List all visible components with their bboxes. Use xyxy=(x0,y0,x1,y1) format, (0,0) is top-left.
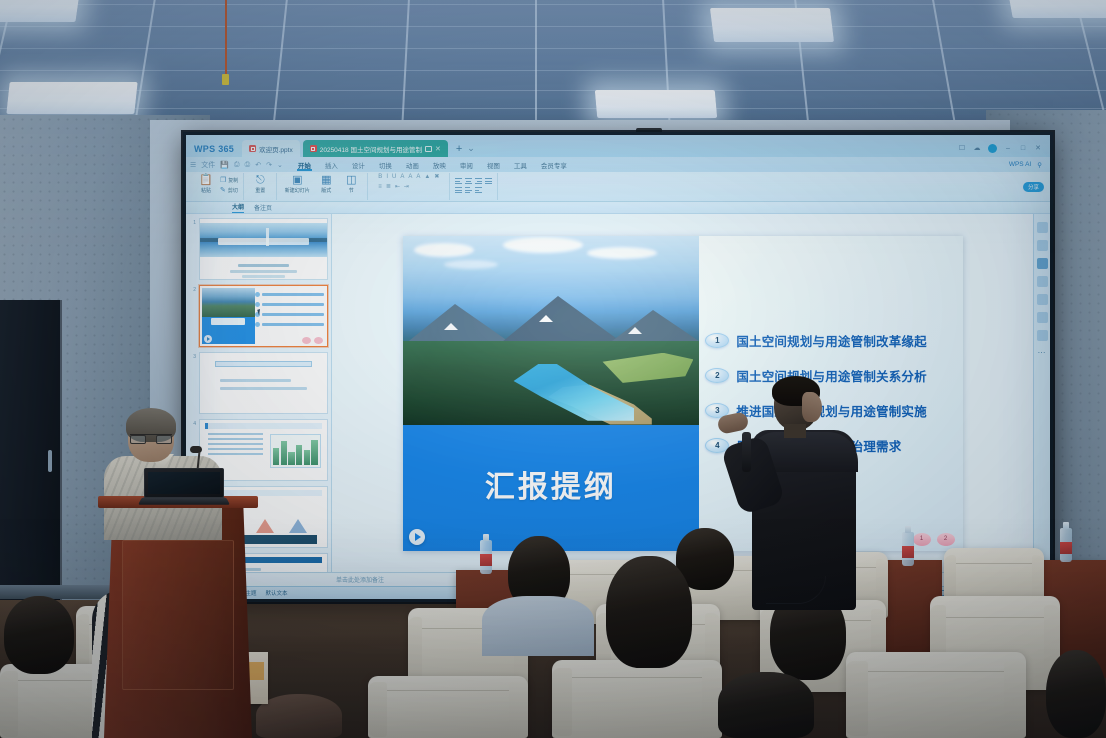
animation-tag[interactable]: 1 xyxy=(913,533,931,546)
close-tab-icon[interactable]: ✕ xyxy=(435,145,441,153)
new-slide-button[interactable]: ▣ 新建幻灯片 xyxy=(282,173,312,194)
document-tab-label: 20250418 国土空间规划与用途管制 xyxy=(320,144,422,154)
align-row-top xyxy=(455,178,492,184)
section-icon: ◫ xyxy=(346,175,356,186)
thumb1-title-bar xyxy=(218,238,309,245)
indent-decrease-icon[interactable]: ⇤ xyxy=(395,183,400,190)
redo-icon[interactable]: ↷ xyxy=(266,161,272,169)
reset-button[interactable]: ⎋ 重置 xyxy=(249,173,271,194)
slide-left-column: 汇报提纲 xyxy=(403,236,700,551)
paragraph-tools-row: ≡ ≣ ⇤ ⇥ xyxy=(373,183,444,190)
section-label: 节 xyxy=(349,187,354,194)
font-group: B I U A A A ▲ ✖ ≡ ≣ xyxy=(368,173,450,200)
format-painter-button[interactable]: ✎ 剪切 xyxy=(220,186,238,194)
underline-icon[interactable]: U xyxy=(392,174,396,180)
audience-head xyxy=(606,556,692,668)
current-slide[interactable]: 汇报提纲 1 国土空间规划与用途管制改革缘起 2 国土空间 xyxy=(403,236,963,551)
ceiling-light-panel xyxy=(710,8,834,42)
thumbnail-item[interactable]: 1 xyxy=(189,218,328,280)
thumb-play-icon[interactable] xyxy=(204,335,212,343)
window-controls: ☐ ☁ – □ ✕ xyxy=(958,144,1046,157)
notes-page-tab[interactable]: 备注页 xyxy=(254,203,272,212)
ceiling-grid xyxy=(0,0,1106,132)
highlight-icon[interactable]: ▲ xyxy=(424,174,430,180)
audience-chair xyxy=(846,652,1026,738)
audience-chair xyxy=(552,660,722,738)
layout-button[interactable]: ▦ 版式 xyxy=(315,173,337,194)
clipboard-group: 📋 粘贴 ❐ 复制 ✎ 剪切 xyxy=(190,173,244,200)
ribbon-tab-review[interactable]: 审阅 xyxy=(453,160,480,170)
presenter-person xyxy=(748,380,868,610)
outline-tab[interactable]: 大纲 xyxy=(232,202,244,213)
share-button[interactable]: 分享 xyxy=(1023,182,1044,192)
wps-office-window: WPS 365 欢迎页.pptx 20250418 国土空间规划与用途管制 ✕ … xyxy=(186,135,1050,599)
door-handle xyxy=(48,450,52,472)
ribbon-tab-transition[interactable]: 切换 xyxy=(372,160,399,170)
reset-label: 重置 xyxy=(255,187,265,194)
thumbnail-slide-1[interactable] xyxy=(199,218,328,280)
charts-icon[interactable] xyxy=(1037,276,1048,287)
water-bottle xyxy=(480,540,492,574)
layout-icon: ▦ xyxy=(321,175,331,186)
align-left-icon[interactable] xyxy=(455,178,462,184)
cut-label: 剪切 xyxy=(228,187,238,194)
numbering-icon[interactable]: ≣ xyxy=(386,183,391,190)
text-direction-icon[interactable] xyxy=(465,187,472,193)
thumbnail-slide-3[interactable] xyxy=(199,352,328,414)
save-icon[interactable]: 💾 xyxy=(220,161,229,169)
water-bottle xyxy=(902,532,914,566)
water-bottle xyxy=(1060,528,1072,562)
audience-chair xyxy=(368,676,528,738)
reset-icon: ⎋ xyxy=(256,175,265,186)
agenda-text: 国土空间规划与用途管制改革缘起 xyxy=(736,331,927,350)
agenda-number: 1 xyxy=(705,333,729,348)
shadow-icon[interactable]: A xyxy=(408,174,412,180)
font-color-icon[interactable]: A xyxy=(416,174,420,180)
shapes-icon[interactable] xyxy=(1037,258,1048,269)
home-icon[interactable] xyxy=(1037,240,1048,251)
audience-head xyxy=(718,672,814,738)
thumb2-title-bar xyxy=(211,318,245,325)
ribbon-tab-insert[interactable]: 插入 xyxy=(318,160,345,170)
play-animation-button[interactable] xyxy=(409,529,425,545)
paste-button[interactable]: 📋 粘贴 xyxy=(195,173,217,194)
ceiling-cord xyxy=(225,0,227,76)
wps-ai-button[interactable]: WPS AI xyxy=(1009,161,1031,168)
align-center-icon[interactable] xyxy=(465,178,472,184)
copy-button[interactable]: ❐ 复制 xyxy=(220,176,238,184)
align-row-bottom xyxy=(455,187,492,193)
bullets-icon[interactable]: ≡ xyxy=(378,184,382,190)
agenda-item[interactable]: 1 国土空间规划与用途管制改革缘起 xyxy=(705,331,952,350)
microphone xyxy=(742,432,751,472)
line-spacing-icon[interactable] xyxy=(455,187,462,193)
wps-logo: WPS 365 xyxy=(190,144,242,157)
strikethrough-icon[interactable]: A xyxy=(400,174,404,180)
bold-icon[interactable]: B xyxy=(378,174,382,180)
more-icon[interactable]: ⋯ xyxy=(1038,348,1047,357)
door[interactable] xyxy=(0,300,62,600)
ribbon-tab-slideshow[interactable]: 放映 xyxy=(426,160,453,170)
reset-group: ⎋ 重置 xyxy=(244,173,277,200)
align-right-icon[interactable] xyxy=(475,178,482,184)
layout-label: 版式 xyxy=(321,187,331,194)
agenda-number: 2 xyxy=(705,368,729,383)
new-slide-icon: ▣ xyxy=(292,175,302,186)
file-menu-label[interactable]: 文件 xyxy=(201,160,215,170)
audience-head xyxy=(1046,650,1106,738)
ribbon-tab-member[interactable]: 会员专享 xyxy=(534,160,574,170)
copy-label: 复制 xyxy=(228,177,238,184)
maximize-icon[interactable]: □ xyxy=(1019,145,1027,153)
indent-increase-icon[interactable]: ⇥ xyxy=(404,183,409,190)
thumb-animation-tags xyxy=(302,337,323,344)
restore-layout-icon[interactable]: ☐ xyxy=(958,145,966,153)
ribbon-tab-start[interactable]: 开始 xyxy=(291,160,318,170)
minimize-icon[interactable]: – xyxy=(1004,145,1012,153)
landscape-photo xyxy=(403,236,700,425)
animation-tag[interactable]: 2 xyxy=(937,533,955,546)
ribbon-toolbar: 📋 粘贴 ❐ 复制 ✎ 剪切 xyxy=(186,172,1050,202)
pptx-file-icon xyxy=(249,145,256,152)
thumbnail-item[interactable]: 2 xyxy=(189,285,328,347)
thumbnail-number: 2 xyxy=(189,285,196,293)
qat-more-icon[interactable]: ⌄ xyxy=(277,161,283,169)
undo-icon[interactable]: ↶ xyxy=(255,161,261,169)
outline-notes-bar: 大纲 备注页 xyxy=(186,202,1050,214)
projection-screen: WPS 365 欢迎页.pptx 20250418 国土空间规划与用途管制 ✕ … xyxy=(183,132,1053,602)
ceiling-tag xyxy=(222,74,229,85)
editor-main: 1 2 xyxy=(186,214,1050,572)
font-tools-row: B I U A A A ▲ ✖ xyxy=(373,173,444,180)
slide-title: 汇报提纲 xyxy=(485,473,617,503)
eyeglasses xyxy=(130,434,172,443)
animation-tag-group: 1 2 xyxy=(913,533,955,546)
quick-access-toolbar: ☰ 文件 💾 ⎙ ⎙ ↶ ↷ ⌄ xyxy=(190,160,291,170)
right-tool-rail[interactable]: ⋯ xyxy=(1033,214,1050,572)
ceiling-light-panel xyxy=(1007,0,1106,18)
ceiling-light-panel xyxy=(595,90,717,118)
ceiling-light-panel xyxy=(6,82,137,114)
section-button[interactable]: ◫ 节 xyxy=(340,173,362,194)
close-icon[interactable]: ✕ xyxy=(1034,145,1042,153)
language-label[interactable]: 默认文本 xyxy=(266,589,288,597)
account-icon[interactable] xyxy=(988,144,997,153)
notes-placeholder: 单击此处添加备注 xyxy=(336,575,384,584)
podium-laptop xyxy=(140,468,228,508)
slide-canvas-area: 汇报提纲 1 国土空间规划与用途管制改革缘起 2 国土空间 xyxy=(332,214,1033,572)
italic-icon[interactable]: I xyxy=(386,174,388,180)
format-painter-icon: ✎ xyxy=(220,186,226,194)
ceiling xyxy=(0,0,1106,132)
thumbnail-number: 1 xyxy=(189,218,196,226)
slide-title-block: 汇报提纲 xyxy=(403,425,700,551)
thumb3-header xyxy=(215,361,312,367)
title-bar: WPS 365 欢迎页.pptx 20250418 国土空间规划与用途管制 ✕ … xyxy=(186,135,1050,157)
new-tab-button[interactable]: + xyxy=(451,143,467,157)
conference-room-scene: WPS 365 欢迎页.pptx 20250418 国土空间规划与用途管制 ✕ … xyxy=(0,0,1106,738)
justify-icon[interactable] xyxy=(485,178,492,184)
columns-icon[interactable] xyxy=(475,187,482,193)
properties-icon[interactable] xyxy=(1037,222,1048,233)
cloud-icon[interactable]: ☁ xyxy=(973,145,981,153)
align-group xyxy=(450,173,498,200)
document-tab-active[interactable]: 20250418 国土空间规划与用途管制 ✕ xyxy=(303,140,448,157)
ribbon-tab-bar: ☰ 文件 💾 ⎙ ⎙ ↶ ↷ ⌄ 开始 插入 设计 切换 动画 放映 xyxy=(186,157,1050,172)
paste-icon: 📋 xyxy=(199,175,213,186)
thumbnail-slide-2-current[interactable] xyxy=(199,285,328,347)
ribbon-tab-animation[interactable]: 动画 xyxy=(399,160,426,170)
document-tab-label: 欢迎页.pptx xyxy=(259,144,293,154)
menu-icon[interactable]: ☰ xyxy=(190,161,196,169)
ribbon-tab-tools[interactable]: 工具 xyxy=(507,160,534,170)
pptx-file-icon xyxy=(310,145,317,152)
images-icon[interactable] xyxy=(1037,294,1048,305)
new-slide-label: 新建幻灯片 xyxy=(285,187,310,194)
search-icon[interactable]: ⚲ xyxy=(1037,161,1042,169)
thumb4-chart xyxy=(270,434,321,468)
assets-icon[interactable] xyxy=(1037,312,1048,323)
ribbon-tab-design[interactable]: 设计 xyxy=(345,160,372,170)
document-tab[interactable]: 欢迎页.pptx xyxy=(242,140,300,157)
print-icon[interactable]: ⎙ xyxy=(234,161,240,169)
clear-format-icon[interactable]: ✖ xyxy=(434,173,439,180)
slides-group: ▣ 新建幻灯片 ▦ 版式 ◫ 节 xyxy=(277,173,368,200)
ribbon-tab-view[interactable]: 视图 xyxy=(480,160,507,170)
cloud-save-icon[interactable] xyxy=(425,146,432,152)
wps-logo-text: WPS 365 xyxy=(194,144,234,154)
audience-head xyxy=(4,596,74,674)
tab-menu-button[interactable]: ⌄ xyxy=(467,143,475,157)
audience-shoulders xyxy=(482,596,594,656)
copy-icon: ❐ xyxy=(220,176,226,184)
design-icon[interactable] xyxy=(1037,330,1048,341)
audience-head xyxy=(256,694,342,738)
print-preview-icon[interactable]: ⎙ xyxy=(245,161,251,169)
thumbnail-number: 3 xyxy=(189,352,196,360)
thumbnail-item[interactable]: 3 xyxy=(189,352,328,414)
ceiling-light-panel xyxy=(0,0,81,22)
paste-label: 粘贴 xyxy=(201,187,211,194)
